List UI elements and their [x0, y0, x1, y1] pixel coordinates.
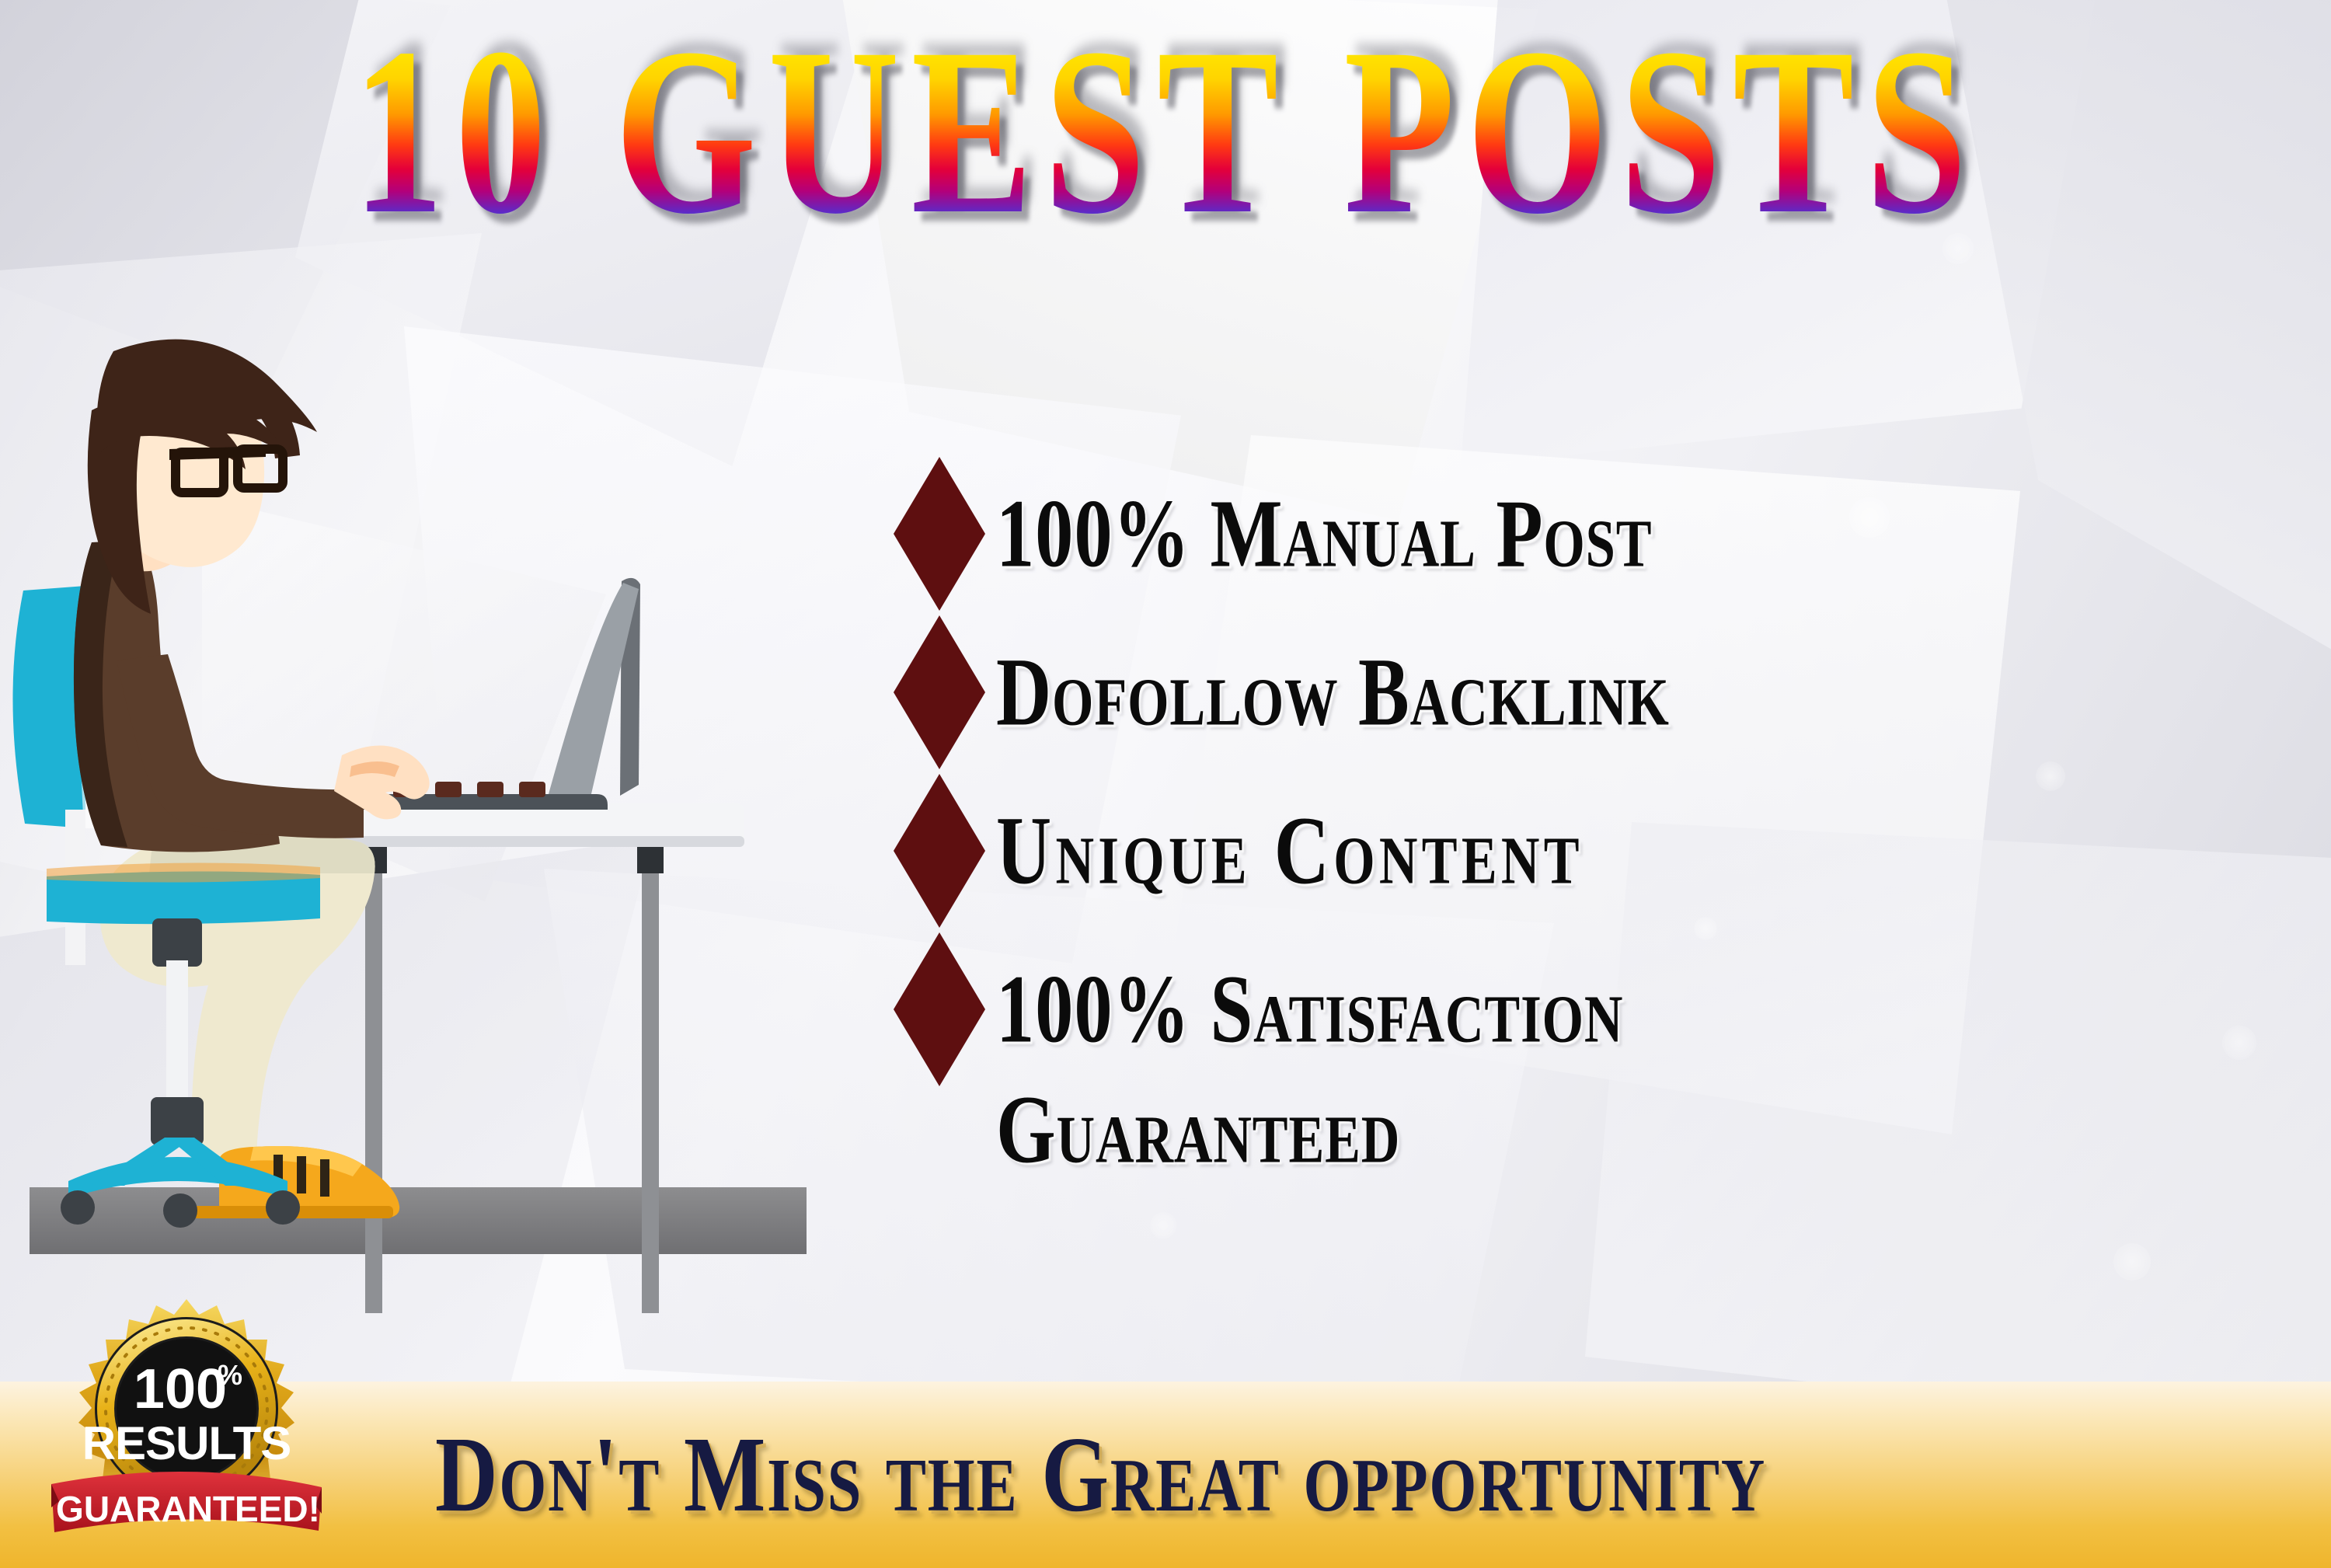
chair-cylinder-top [152, 918, 202, 967]
diamond-bullet-icon [894, 932, 985, 1086]
feature-label: Unique Content [996, 800, 1584, 901]
badge-results-label: RESULTS [82, 1417, 291, 1469]
shoe-lace [320, 1159, 329, 1197]
feature-label-guaranteed: Guaranteed [996, 1074, 2157, 1186]
cta-banner: Don't Miss the Great opportunity [0, 1382, 2331, 1568]
laptop-key [519, 782, 545, 797]
feature-item-dofollow: Dofollow Backlink [894, 615, 2315, 769]
feature-label: 100% Satisfaction [996, 959, 1623, 1060]
desk-leg-front [365, 847, 382, 1313]
laptop-key [435, 782, 462, 797]
feature-item-manual-post: 100% Manual Post [894, 457, 2315, 611]
chair-seat-trim [47, 862, 320, 882]
sparkle-dot [2113, 1243, 2151, 1281]
feature-label: Dofollow Backlink [996, 642, 1670, 743]
chair-caster [163, 1193, 197, 1228]
shoe-lace [297, 1156, 306, 1193]
poster-canvas: 10 GUEST POSTS 10 GUEST POSTS [0, 0, 2331, 1568]
diamond-bullet-icon [894, 457, 985, 611]
page-title-wrap: 10 GUEST POSTS [0, 22, 2331, 202]
chair-caster [61, 1190, 95, 1225]
badge-ribbon-label: GUARANTEED! [56, 1489, 320, 1529]
feature-label: 100% Manual Post [996, 483, 1652, 584]
desk-top-edge [309, 836, 744, 847]
laptop-key [477, 782, 503, 797]
chair-caster [266, 1190, 300, 1225]
feature-list: 100% Manual Post Dofollow Backlink Uniqu… [894, 457, 2315, 1180]
badge-percent-symbol: % [218, 1359, 242, 1391]
illustration-man-working-on-laptop [0, 334, 870, 1313]
diamond-bullet-icon [894, 615, 985, 769]
guarantee-badge: 100 % RESULTS GUARANTEED! [47, 1294, 326, 1551]
page-title: 10 GUEST POSTS [353, 22, 1979, 242]
feature-item-satisfaction: 100% Satisfaction [894, 932, 2315, 1086]
cta-banner-text: Don't Miss the Great opportunity [435, 1413, 1766, 1536]
sparkle-dot [1150, 1212, 1176, 1239]
diamond-bullet-icon [894, 774, 985, 928]
badge-percent-value: 100 [134, 1358, 227, 1420]
desk-leg-back [642, 847, 659, 1313]
feature-item-unique-content: Unique Content [894, 774, 2315, 928]
chair-cylinder [166, 960, 188, 1103]
